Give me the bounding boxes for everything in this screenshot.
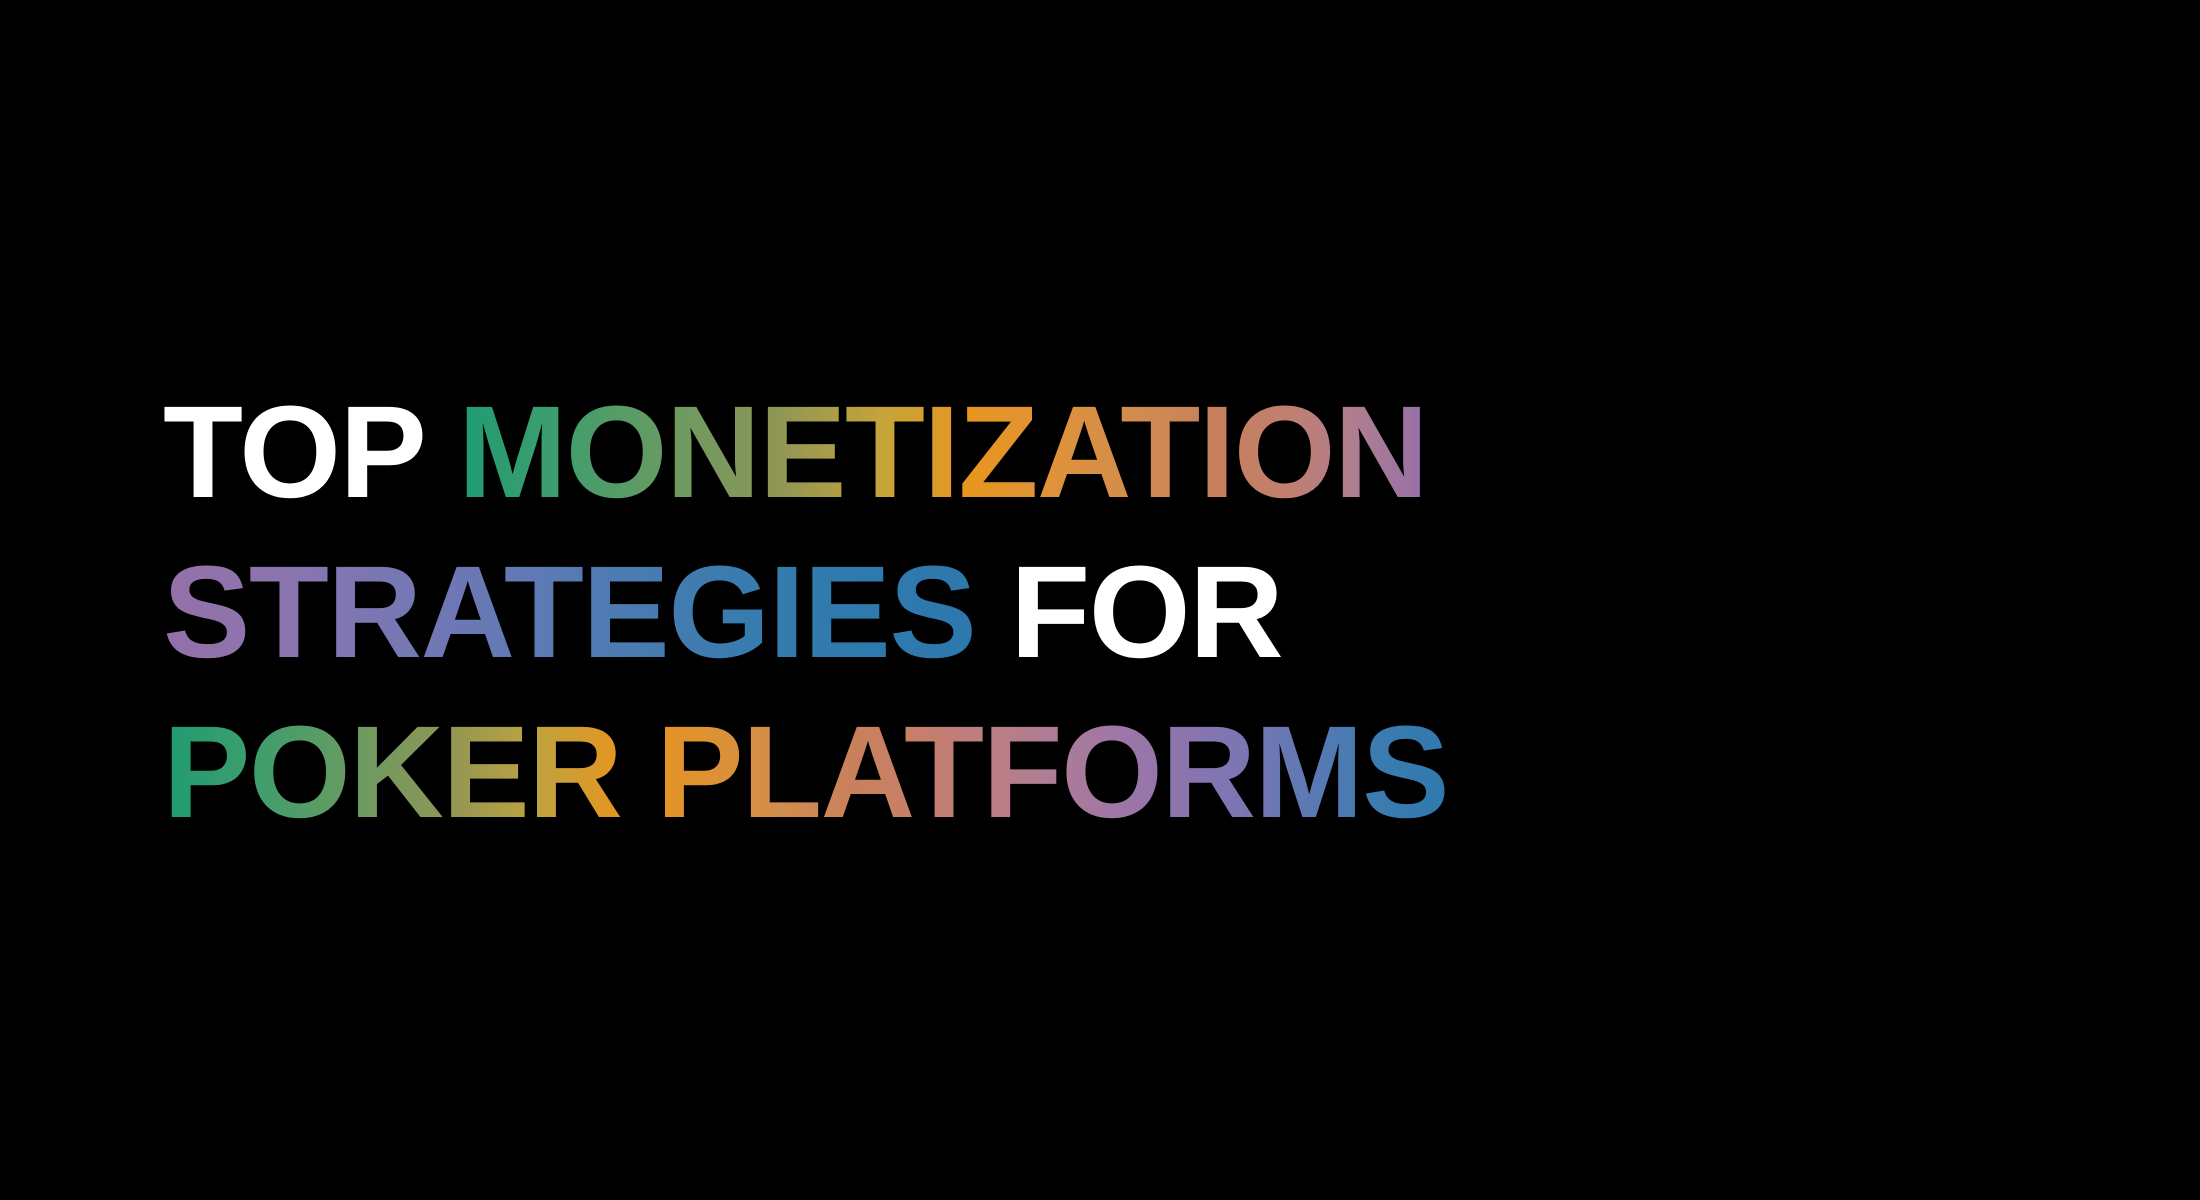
slide-canvas: TOP MONETIZATION STRATEGIES FOR POKER PL…: [0, 0, 2200, 1200]
headline-segment-monetization: MONETIZATION: [458, 378, 1427, 525]
headline-line-3: POKER PLATFORMS: [163, 692, 1783, 852]
headline-line-1: TOP MONETIZATION: [163, 372, 1783, 532]
headline-segment-strategies: STRATEGIES: [163, 538, 975, 685]
headline-segment-for: FOR: [975, 538, 1282, 685]
headline-segment-top: TOP: [163, 378, 458, 525]
headline-segment-poker-platforms: POKER PLATFORMS: [163, 698, 1448, 845]
headline-line-2: STRATEGIES FOR: [163, 532, 1783, 692]
page-title: TOP MONETIZATION STRATEGIES FOR POKER PL…: [163, 372, 1783, 852]
